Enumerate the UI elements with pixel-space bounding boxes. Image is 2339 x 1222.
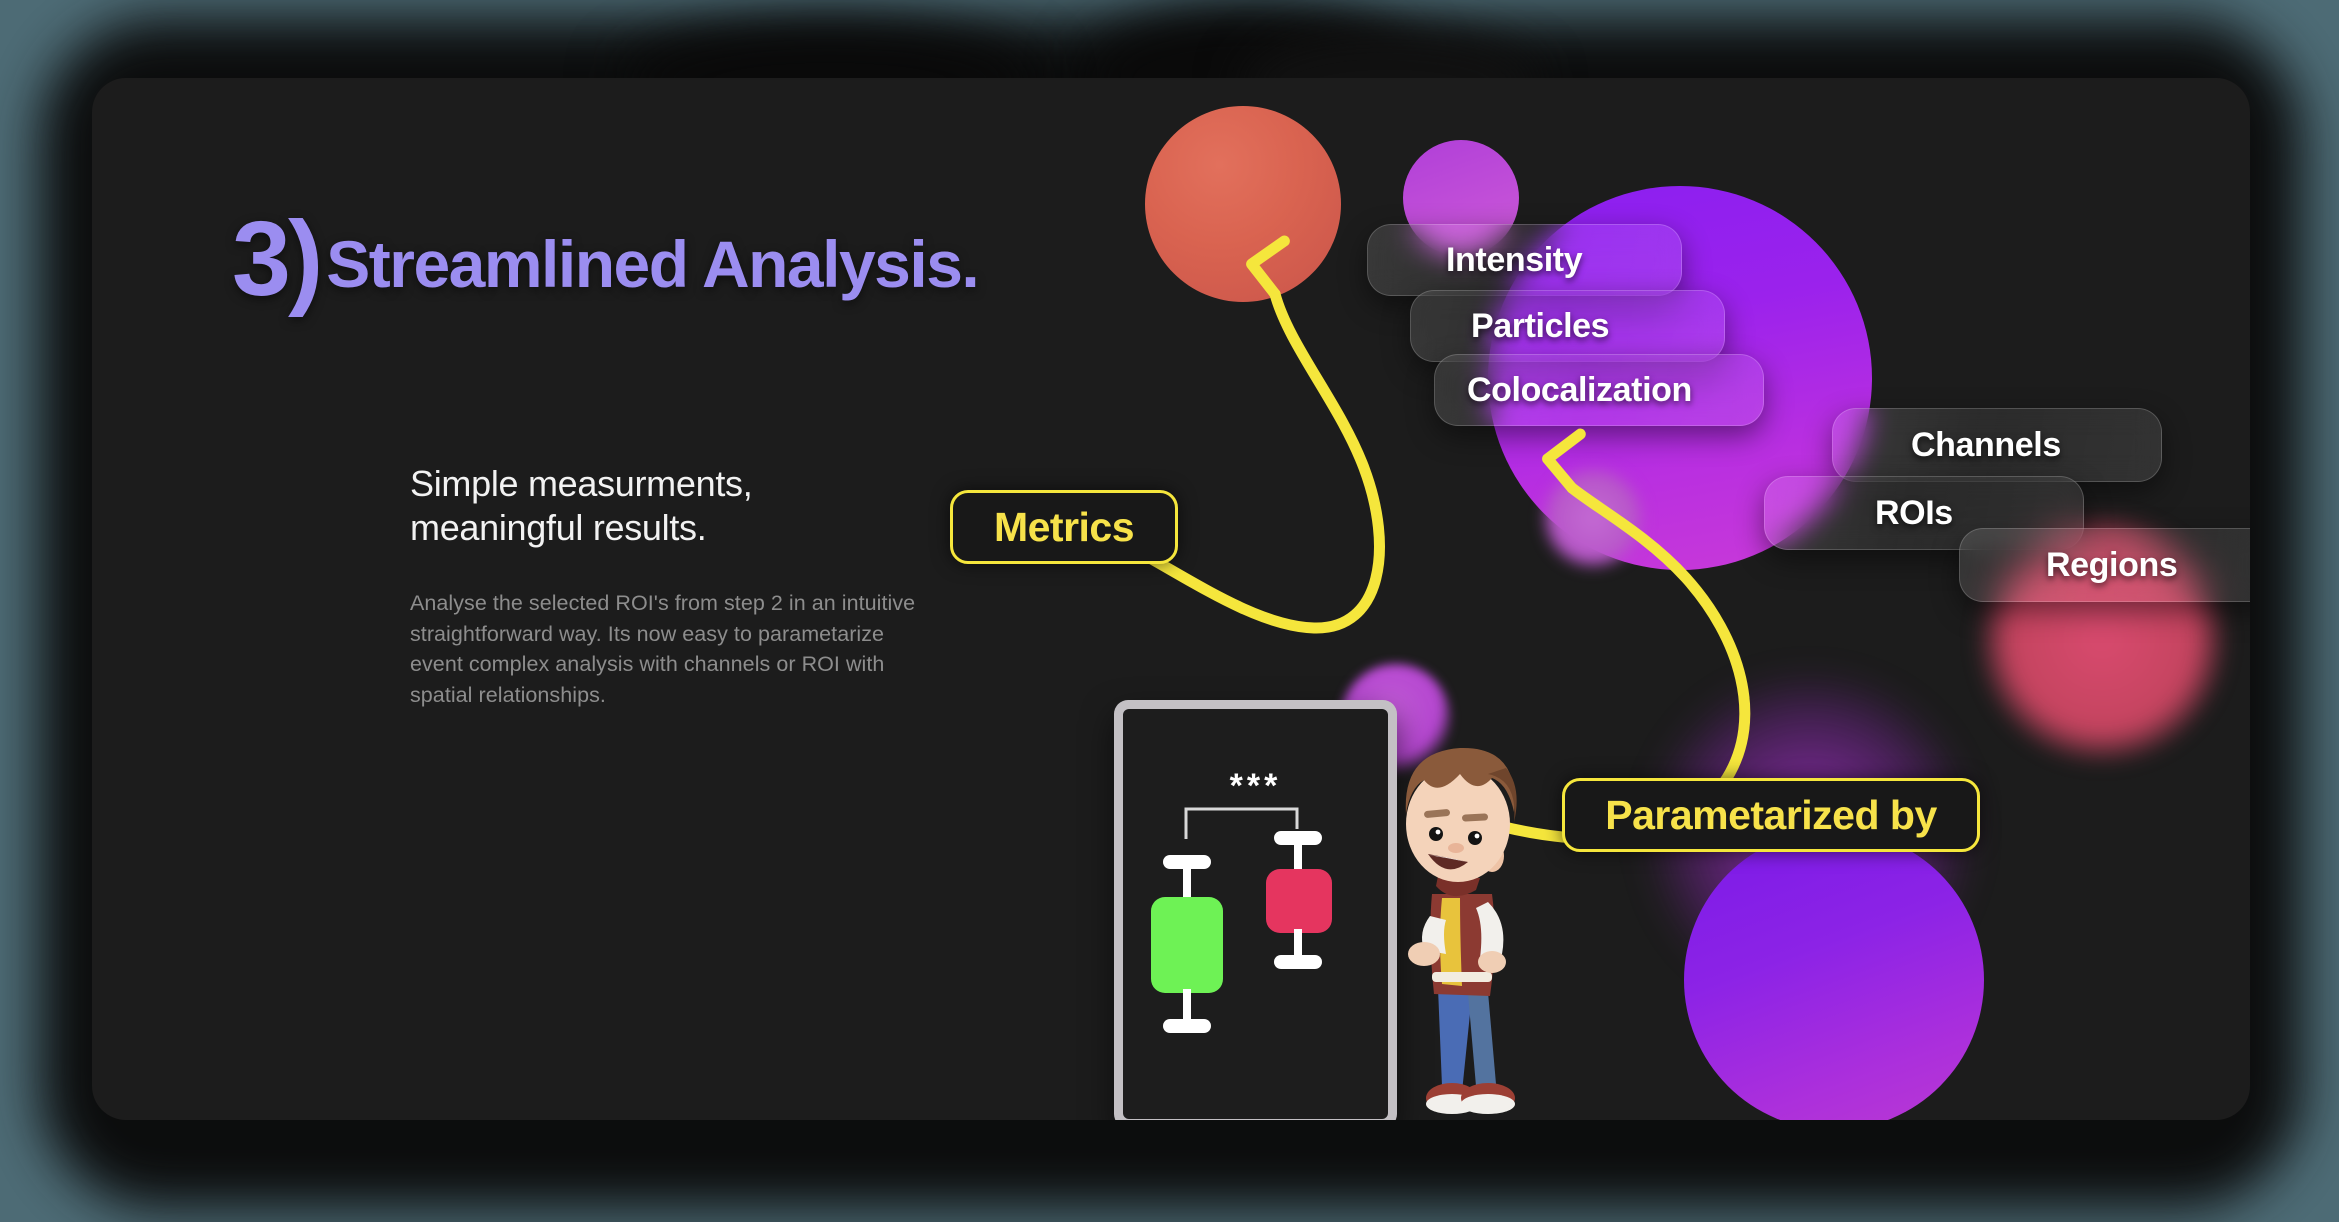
boxplot-a-cap-lower — [1163, 1019, 1211, 1033]
pill-regions-label: Regions — [2046, 546, 2177, 585]
callout-metrics[interactable]: Metrics — [950, 490, 1178, 564]
lede-text: Simple measurments, meaningful results. — [410, 462, 930, 550]
lede-line-2: meaningful results. — [410, 506, 930, 550]
boxplot-a-cap-upper — [1163, 855, 1211, 869]
slide-card: 3) Streamlined Analysis. Simple measurme… — [92, 78, 2250, 1120]
pill-intensity-label: Intensity — [1446, 241, 1582, 280]
pill-particles-label: Particles — [1471, 307, 1609, 346]
pill-channels-label: Channels — [1911, 426, 2061, 465]
coral-circle-blob — [1145, 106, 1341, 302]
boxplot-canvas: *** — [1123, 709, 1388, 1119]
orchid-glow-blob — [1541, 466, 1645, 570]
slide-heading: 3) Streamlined Analysis. — [232, 206, 978, 312]
pill-regions[interactable]: Regions — [1959, 528, 2250, 602]
pill-intensity[interactable]: Intensity — [1367, 224, 1682, 296]
lede-line-1: Simple measurments, — [410, 462, 930, 506]
boxplot-panel: *** — [1114, 700, 1397, 1120]
pill-particles[interactable]: Particles — [1410, 290, 1725, 362]
pill-channels[interactable]: Channels — [1832, 408, 2162, 482]
cartoon-boy-illustration — [1380, 726, 1550, 1120]
page-title: Streamlined Analysis. — [326, 231, 978, 297]
callout-parametarized-by-label: Parametarized by — [1605, 792, 1937, 839]
pill-colocalization[interactable]: Colocalization — [1434, 354, 1764, 426]
slide-canvas: 3) Streamlined Analysis. Simple measurme… — [0, 0, 2339, 1222]
copy-block: Simple measurments, meaningful results. … — [410, 462, 930, 711]
boxplot-a-box — [1151, 897, 1223, 993]
step-number: 3) — [232, 206, 320, 312]
pill-colocalization-label: Colocalization — [1467, 371, 1692, 410]
arrow-metrics-path — [1092, 294, 1379, 628]
callout-metrics-label: Metrics — [994, 504, 1134, 551]
body-text: Analyse the selected ROI's from step 2 i… — [410, 588, 930, 711]
boxplot-b-box — [1266, 869, 1332, 933]
boxplot-b-cap-lower — [1274, 955, 1322, 969]
boxplot-b-cap-upper — [1274, 831, 1322, 845]
pill-rois-label: ROIs — [1875, 494, 1953, 533]
callout-parametarized-by[interactable]: Parametarized by — [1562, 778, 1980, 852]
bottom-purple-circle-blob — [1684, 830, 1984, 1120]
